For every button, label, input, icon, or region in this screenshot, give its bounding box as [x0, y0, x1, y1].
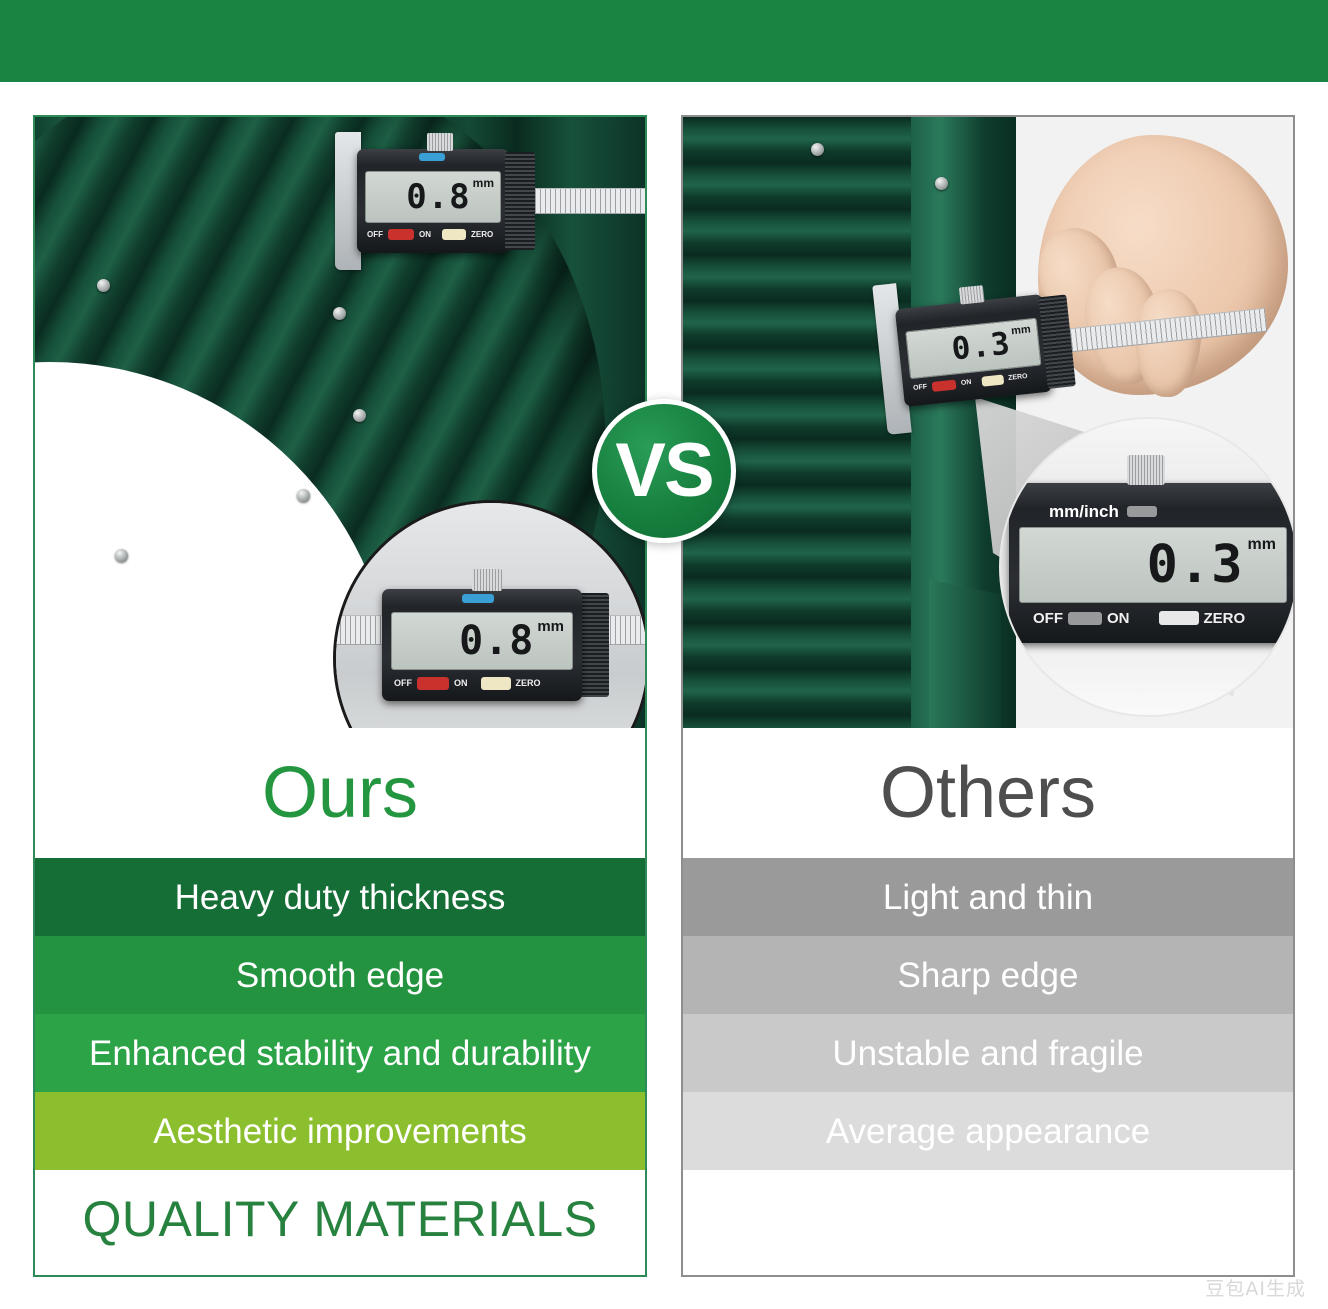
caliper-thumb-screw-icon	[959, 285, 985, 304]
bolt-icon	[333, 307, 346, 320]
inset-caliper-on-label: ON	[1107, 610, 1130, 627]
caliper-mode-button[interactable]	[1127, 506, 1157, 517]
ours-product-photo: 0.8 mm OFF ON ZERO	[35, 117, 645, 728]
caliper-zero-button[interactable]	[442, 229, 466, 240]
others-feature-label-3: Unstable and fragile	[832, 1036, 1143, 1071]
caliper-scale-rail	[1066, 308, 1267, 353]
ours-panel: 0.8 mm OFF ON ZERO	[33, 115, 647, 1277]
caliper-unit: mm	[473, 176, 494, 190]
caliper-power-button[interactable]	[932, 379, 957, 391]
others-title-row: Others	[683, 728, 1293, 858]
inset-caliper-button-row: OFF ON ZERO	[1019, 610, 1287, 627]
ours-feature-row-1: Heavy duty thickness	[35, 858, 645, 936]
others-feature-label-4: Average appearance	[826, 1114, 1150, 1149]
caliper-body: 0.3 mm OFF ON ZERO	[895, 294, 1052, 407]
caliper-on-label: ON	[961, 379, 972, 387]
top-green-banner	[0, 0, 1328, 82]
ours-feature-label-4: Aesthetic improvements	[153, 1114, 526, 1149]
ours-inset-caliper: 0.8 mm OFF ON ZERO	[382, 589, 609, 701]
ours-feature-row-4: Aesthetic improvements	[35, 1092, 645, 1170]
inset-caliper-zero-label: ZERO	[516, 678, 541, 688]
bolt-icon	[115, 549, 128, 562]
others-feature-label-2: Sharp edge	[898, 958, 1079, 993]
inset-caliper-off-label: OFF	[1033, 610, 1063, 627]
caliper-thumb-screw-icon	[1127, 455, 1165, 485]
bolt-icon	[97, 279, 110, 292]
ours-feature-row-2: Smooth edge	[35, 936, 645, 1014]
ours-feature-label-3: Enhanced stability and durability	[89, 1036, 591, 1071]
caliper-off-label: OFF	[367, 230, 383, 239]
ours-magnifier-inset: 0.8 mm OFF ON ZERO	[333, 500, 645, 728]
ours-caliper: 0.8 mm OFF ON ZERO	[335, 132, 645, 270]
others-footer-row	[683, 1170, 1293, 1267]
bolt-icon	[935, 177, 948, 190]
caliper-mode-button[interactable]	[462, 594, 494, 603]
inset-caliper-zero-button[interactable]	[1159, 611, 1199, 625]
others-feature-label-1: Light and thin	[883, 880, 1093, 915]
others-inset-caliper: mm/inch 0.3 mm OFF ON ZERO	[1009, 483, 1293, 643]
bolt-icon	[297, 489, 310, 502]
caliper-unit: mm	[1011, 323, 1032, 337]
ours-feature-label-2: Smooth edge	[236, 958, 444, 993]
caliper-zero-label: ZERO	[471, 230, 493, 239]
inset-caliper-display: 0.8 mm	[391, 612, 573, 670]
caliper-power-button[interactable]	[388, 229, 414, 240]
inset-caliper-mode-row: mm/inch	[1019, 502, 1287, 522]
caliper-grip	[505, 152, 535, 250]
others-magnifier-inset: mm/inch 0.3 mm OFF ON ZERO	[999, 417, 1293, 717]
inset-caliper-zero-button[interactable]	[481, 677, 511, 690]
panel-leg	[929, 579, 1001, 728]
ours-feature-row-3: Enhanced stability and durability	[35, 1014, 645, 1092]
others-title: Others	[880, 757, 1096, 829]
inset-caliper-off-label: OFF	[394, 678, 412, 688]
inset-caliper-reading: 0.8	[459, 621, 534, 661]
inset-caliper-unit: mm	[537, 618, 564, 635]
inset-caliper-unit: mm	[1248, 536, 1276, 554]
inset-caliper-display: 0.3 mm	[1019, 527, 1287, 603]
caliper-body: 0.8 mm OFF ON ZERO	[357, 149, 509, 253]
inset-caliper-body: mm/inch 0.3 mm OFF ON ZERO	[1009, 483, 1293, 643]
inset-caliper-on-label: ON	[454, 678, 468, 688]
vs-badge: VS	[592, 399, 736, 543]
others-product-photo: 0.3 mm OFF ON ZERO	[683, 117, 1293, 728]
caliper-mode-label: mm/inch	[1049, 502, 1119, 522]
caliper-zero-label: ZERO	[1008, 373, 1028, 382]
caliper-thumb-screw-icon	[427, 133, 453, 151]
others-feature-row-1: Light and thin	[683, 858, 1293, 936]
inset-caliper-button-row: OFF ON ZERO	[391, 677, 573, 690]
caliper-thumb-screw-icon	[472, 569, 502, 591]
ours-footer-label: QUALITY MATERIALS	[82, 1194, 597, 1244]
caliper-on-label: ON	[419, 230, 431, 239]
caliper-zero-button[interactable]	[981, 374, 1004, 386]
bolt-icon	[811, 143, 824, 156]
inset-caliper-zero-label: ZERO	[1204, 610, 1246, 627]
caliper-reading: 0.8	[406, 180, 470, 214]
caliper-scale-rail	[531, 188, 645, 214]
ours-footer-row: QUALITY MATERIALS	[35, 1170, 645, 1267]
inset-caliper-body: 0.8 mm OFF ON ZERO	[382, 589, 582, 701]
others-feature-row-3: Unstable and fragile	[683, 1014, 1293, 1092]
others-feature-row-4: Average appearance	[683, 1092, 1293, 1170]
bolt-icon	[353, 409, 366, 422]
caliper-display: 0.3 mm	[905, 317, 1041, 379]
comparison-container: 0.8 mm OFF ON ZERO	[0, 82, 1328, 1309]
vs-badge-label: VS	[615, 433, 712, 509]
inset-caliper-power-button[interactable]	[417, 677, 449, 690]
inset-caliper-reading: 0.3	[1147, 539, 1244, 591]
others-panel: 0.3 mm OFF ON ZERO	[681, 115, 1295, 1277]
watermark: 豆包AI生成	[1205, 1274, 1306, 1301]
ours-title-row: Ours	[35, 728, 645, 858]
caliper-off-label: OFF	[913, 384, 928, 392]
ours-feature-label-1: Heavy duty thickness	[175, 880, 506, 915]
caliper-display: 0.8 mm	[365, 171, 501, 223]
caliper-reading: 0.3	[950, 329, 1012, 366]
others-feature-row-2: Sharp edge	[683, 936, 1293, 1014]
inset-caliper-power-button[interactable]	[1068, 612, 1102, 625]
caliper-button-row: OFF ON ZERO	[365, 229, 501, 240]
caliper-mode-button[interactable]	[419, 153, 445, 161]
ours-title: Ours	[262, 757, 418, 829]
